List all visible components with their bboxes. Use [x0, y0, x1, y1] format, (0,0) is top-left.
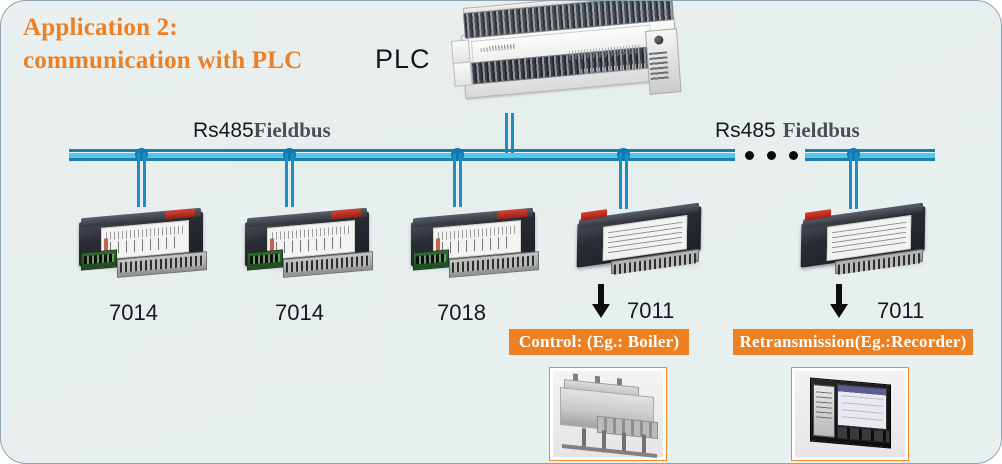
fieldbus-right-rs485: Rs485 — [715, 119, 776, 142]
io-module-7014-b[interactable] — [245, 209, 373, 279]
bus-ellipsis-dot-3 — [789, 151, 798, 160]
fieldbus-label-right: Rs485Fieldbus — [715, 118, 860, 143]
title-line-2: communication with PLC — [23, 44, 383, 77]
drop-line-module-5 — [849, 153, 858, 209]
module-green-terminal-block — [413, 249, 449, 270]
rs485-bus-line-right — [805, 149, 935, 162]
page-title: Application 2: communication with PLC — [23, 11, 383, 77]
fieldbus-left-rs485: Rs485 — [193, 119, 254, 142]
plc-device-photo — [449, 5, 689, 117]
io-module-7011-b[interactable] — [801, 207, 929, 277]
plc-left-cover-lower — [453, 61, 473, 87]
recorder-side-panel — [813, 384, 835, 438]
recorder-photo — [795, 371, 905, 457]
part-number-module-1: 7014 — [109, 300, 158, 326]
caption-box-retransmission: Retransmission(Eg.:Recorder) — [733, 329, 973, 355]
drop-line-module-1 — [137, 153, 146, 207]
part-number-module-2: 7014 — [275, 300, 324, 326]
part-number-module-5: 7011 — [877, 298, 924, 324]
drop-line-module-3 — [453, 153, 462, 207]
diagram-canvas: Application 2: communication with PLC PL… — [0, 0, 1002, 464]
recorder-photo-frame — [791, 367, 909, 461]
rs485-bus-line-left — [69, 149, 735, 162]
title-line-1: Application 2: — [23, 14, 178, 41]
fieldbus-left-fieldbus: Fieldbus — [254, 118, 331, 142]
drop-line-module-4 — [619, 153, 628, 209]
caption-box-control: Control: (Eg.: Boiler) — [509, 329, 689, 355]
module-green-terminal-block — [247, 249, 283, 270]
part-number-module-4: 7011 — [627, 298, 674, 324]
fieldbus-label-left: Rs485Fieldbus — [193, 118, 331, 143]
part-number-module-3: 7018 — [437, 300, 486, 326]
io-module-7014-a[interactable] — [79, 209, 207, 279]
boiler-photo — [553, 371, 663, 457]
plc-label: PLC — [375, 44, 431, 75]
module-green-terminal-block — [81, 249, 117, 270]
io-module-7011-a[interactable] — [577, 207, 705, 277]
plc-led-strip — [649, 51, 669, 83]
boiler-photo-frame — [549, 367, 667, 461]
drop-line-module-2 — [285, 153, 294, 207]
bus-ellipsis-dot-2 — [767, 151, 776, 160]
fieldbus-right-fieldbus: Fieldbus — [783, 118, 860, 142]
io-module-7018[interactable] — [411, 209, 539, 279]
recorder-display-screen — [837, 384, 887, 430]
bus-ellipsis-dot-1 — [745, 151, 754, 160]
